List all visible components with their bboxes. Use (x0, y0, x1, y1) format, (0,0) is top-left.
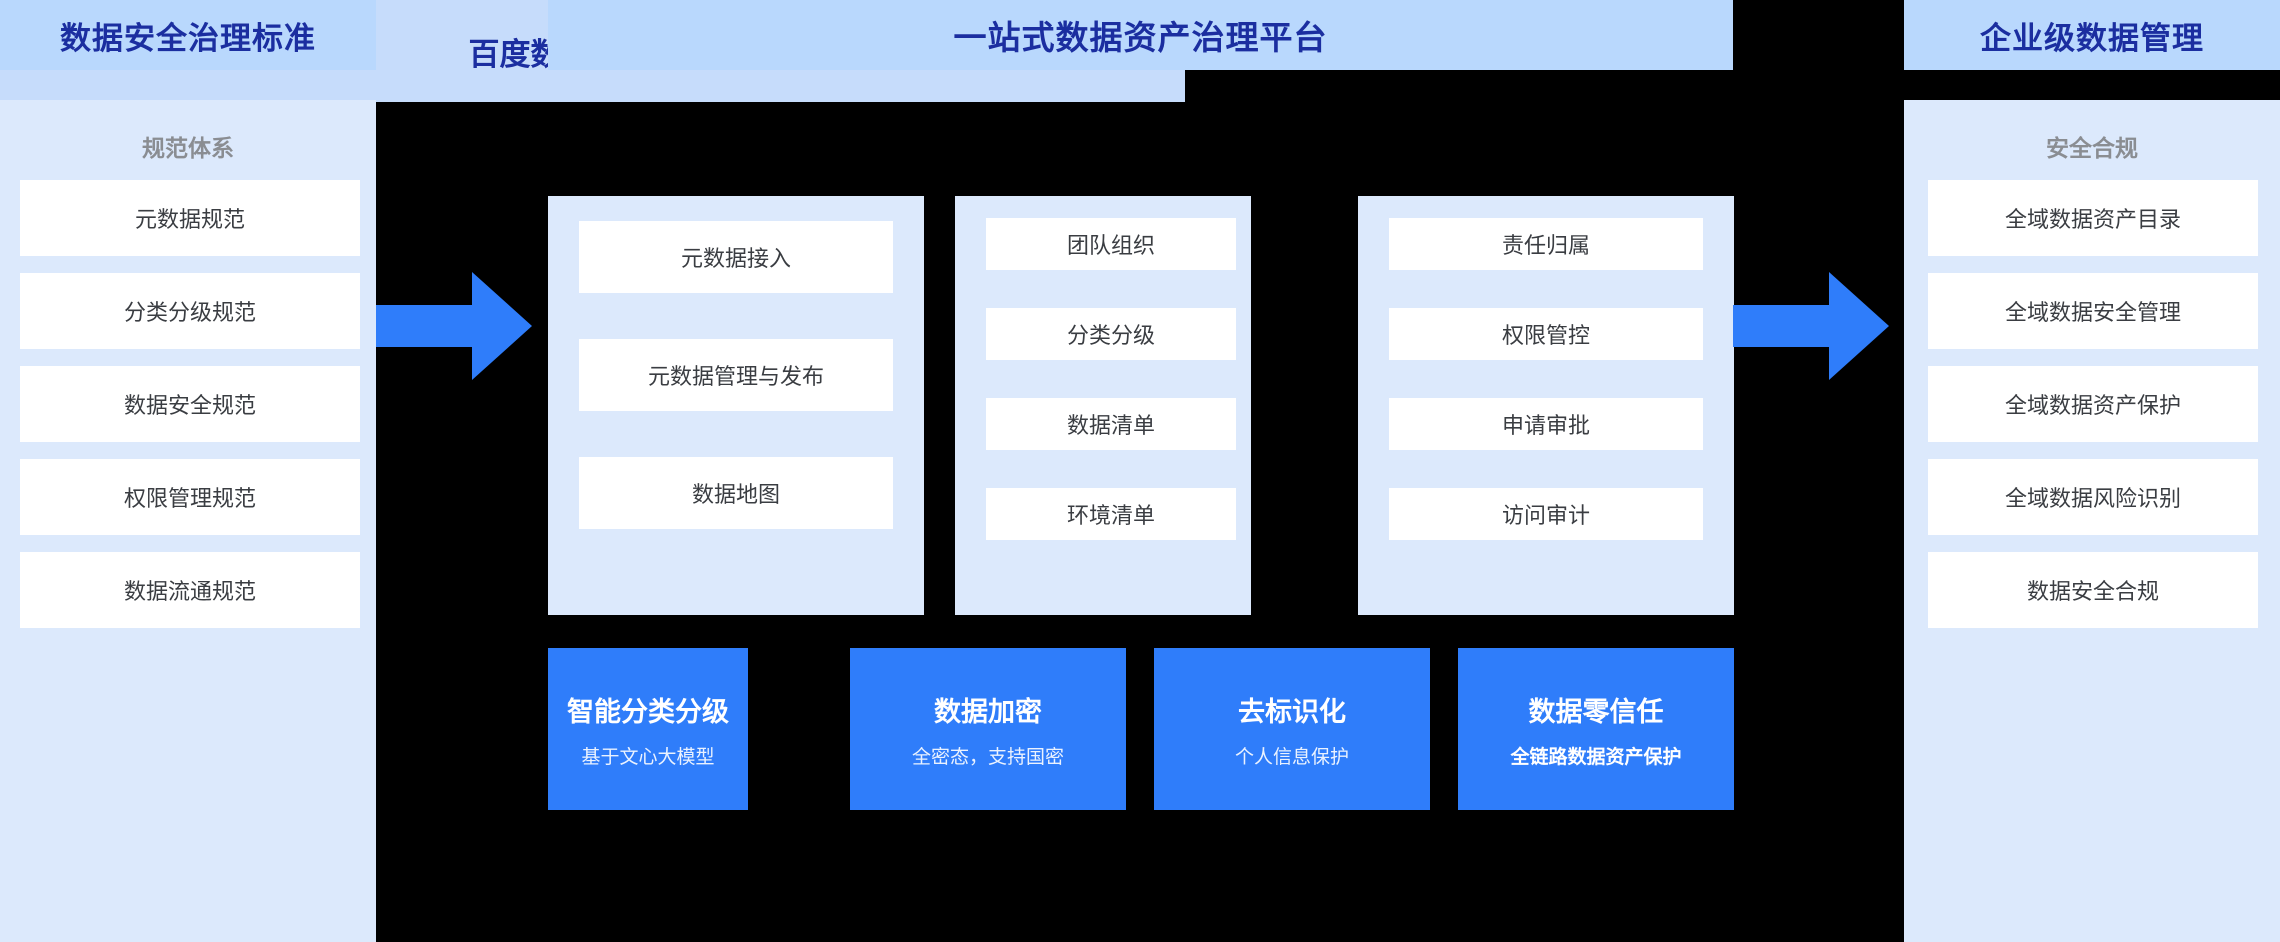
left-item-0[interactable]: 元数据规范 (20, 180, 360, 256)
capability-title-0: 智能分类分级 (567, 690, 729, 729)
right-item-1[interactable]: 全域数据安全管理 (1928, 273, 2258, 349)
middle-header-title: 一站式数据资产治理平台 (954, 11, 1328, 59)
capability-card-0[interactable]: 智能分类分级 基于文心大模型 (548, 648, 748, 810)
middle-column-2: 团队组织 分类分级 数据清单 环境清单 (955, 196, 1251, 615)
left-panel: 规范体系 元数据规范 分类分级规范 数据安全规范 权限管理规范 数据流通规范 (0, 100, 376, 942)
capability-subtitle-2: 个人信息保护 (1235, 742, 1349, 769)
right-header-banner: 企业级数据管理 (1904, 0, 2280, 70)
left-item-4[interactable]: 数据流通规范 (20, 552, 360, 628)
left-item-1[interactable]: 分类分级规范 (20, 273, 360, 349)
capability-subtitle-3: 全链路数据资产保护 (1510, 742, 1681, 769)
middle-col2-item-2[interactable]: 数据清单 (986, 398, 1236, 450)
left-section-title: 规范体系 (0, 129, 376, 163)
capability-title-2: 去标识化 (1238, 690, 1346, 729)
right-item-3[interactable]: 全域数据风险识别 (1928, 459, 2258, 535)
middle-column-3: 责任归属 权限管控 申请审批 访问审计 (1358, 196, 1734, 615)
left-item-3[interactable]: 权限管理规范 (20, 459, 360, 535)
flow-arrow-right-icon (1733, 272, 1889, 380)
right-panel: 安全合规 全域数据资产目录 全域数据安全管理 全域数据资产保护 全域数据风险识别… (1904, 100, 2280, 942)
middle-col3-item-0[interactable]: 责任归属 (1389, 218, 1703, 270)
capability-title-3: 数据零信任 (1529, 690, 1664, 729)
left-header-banner: 数据安全治理标准 (0, 0, 376, 70)
middle-col1-item-1[interactable]: 元数据管理与发布 (579, 339, 893, 411)
capability-card-3[interactable]: 数据零信任 全链路数据资产保护 (1458, 648, 1734, 810)
diagram-canvas: 数据安全治理标准 规范体系 元数据规范 分类分级规范 数据安全规范 权限管理规范… (0, 0, 2280, 942)
capability-card-2[interactable]: 去标识化 个人信息保护 (1154, 648, 1430, 810)
middle-col1-item-2[interactable]: 数据地图 (579, 457, 893, 529)
right-section-title: 安全合规 (1904, 129, 2280, 163)
middle-header-banner: 一站式数据资产治理平台 (548, 0, 1733, 70)
middle-col1-item-0[interactable]: 元数据接入 (579, 221, 893, 293)
middle-col3-item-1[interactable]: 权限管控 (1389, 308, 1703, 360)
middle-col3-item-2[interactable]: 申请审批 (1389, 398, 1703, 450)
capability-title-1: 数据加密 (934, 690, 1042, 729)
middle-col3-item-3[interactable]: 访问审计 (1389, 488, 1703, 540)
middle-col2-item-3[interactable]: 环境清单 (986, 488, 1236, 540)
capability-subtitle-1: 全密态，支持国密 (912, 742, 1064, 769)
flow-arrow-left-icon (376, 272, 532, 380)
right-header-title: 企业级数据管理 (1980, 13, 2204, 58)
right-item-0[interactable]: 全域数据资产目录 (1928, 180, 2258, 256)
capability-card-1[interactable]: 数据加密 全密态，支持国密 (850, 648, 1126, 810)
middle-col2-item-1[interactable]: 分类分级 (986, 308, 1236, 360)
left-item-2[interactable]: 数据安全规范 (20, 366, 360, 442)
middle-col2-item-0[interactable]: 团队组织 (986, 218, 1236, 270)
capability-subtitle-0: 基于文心大模型 (581, 742, 714, 769)
right-item-2[interactable]: 全域数据资产保护 (1928, 366, 2258, 442)
middle-column-1: 元数据接入 元数据管理与发布 数据地图 (548, 196, 924, 615)
right-item-4[interactable]: 数据安全合规 (1928, 552, 2258, 628)
left-header-title: 数据安全治理标准 (60, 13, 316, 58)
